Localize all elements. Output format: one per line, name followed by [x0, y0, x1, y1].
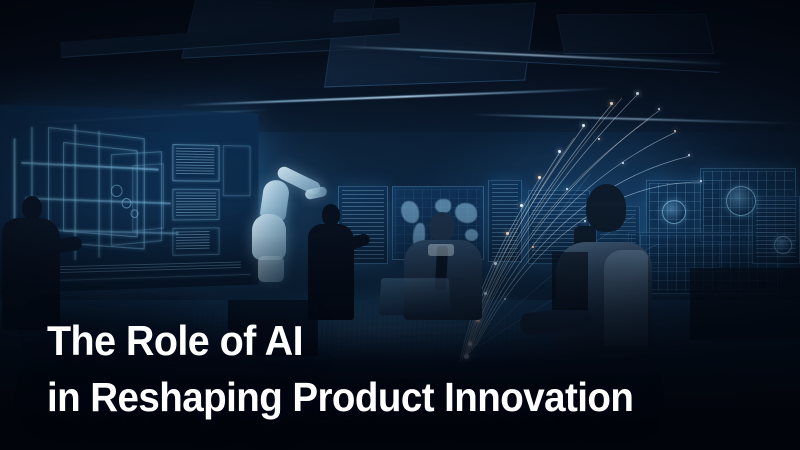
banner-title-line-2: in Reshaping Product Innovation [47, 369, 633, 425]
banner-title-line-1: The Role of AI [47, 313, 633, 369]
foreground-desk-right [690, 268, 800, 340]
foreground-monitor [552, 252, 588, 310]
hero-banner: The Role of AI in Reshaping Product Inno… [0, 0, 800, 450]
banner-title: The Role of AI in Reshaping Product Inno… [47, 313, 671, 425]
